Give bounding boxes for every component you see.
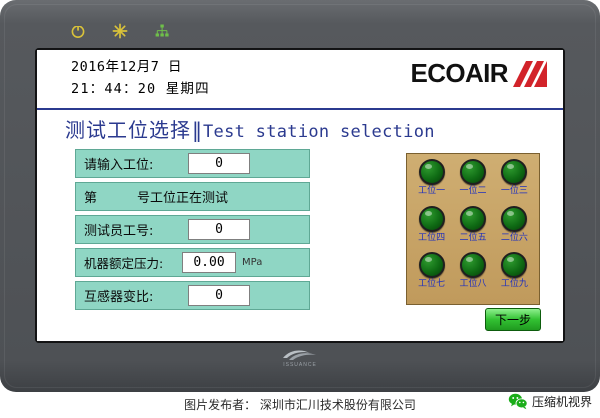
station-label: 一位三	[501, 186, 528, 197]
station-lamp-icon	[460, 206, 486, 232]
operator-id-field[interactable]: 0	[188, 219, 250, 240]
ct-ratio-label: 互感器变比:	[76, 286, 153, 305]
rated-pressure-field[interactable]: 0.00	[182, 252, 236, 273]
device-brand-logo: ISSUANCE	[0, 348, 600, 368]
rated-pressure-unit: MPa	[242, 257, 262, 268]
power-icon	[70, 23, 86, 39]
station-label: 工位四	[418, 233, 445, 244]
station-button-1[interactable]: 工位一	[411, 159, 452, 206]
hmi-screen: 2016年12月7 日 21：44：20 星期四 ECOAIR	[37, 50, 563, 341]
station-button-2[interactable]: 一位二	[452, 159, 493, 206]
hmi-header: 2016年12月7 日 21：44：20 星期四 ECOAIR	[37, 50, 563, 110]
form-row-operator-id: 测试员工号: 0	[75, 215, 310, 244]
testing-status-suffix: 号工位正在测试	[97, 187, 228, 206]
page-title-separator: ‖	[192, 118, 202, 142]
page-title: 测试工位选择 ‖ Test station selection	[65, 114, 525, 144]
datetime-display: 2016年12月7 日 21：44：20 星期四	[71, 56, 210, 100]
station-label: 工位七	[418, 279, 445, 290]
time-text: 21：44：20 星期四	[71, 78, 210, 100]
ecoair-logo-text: ECOAIR	[410, 58, 508, 89]
network-icon	[154, 23, 170, 39]
station-button-3[interactable]: 一位三	[494, 159, 535, 206]
wechat-icon	[508, 393, 528, 410]
station-button-9[interactable]: 工位九	[494, 252, 535, 299]
station-lamp-icon	[501, 252, 527, 278]
station-label: 工位一	[418, 186, 445, 197]
ecoair-chevron-mark-icon	[513, 61, 547, 87]
station-lamp-icon	[501, 206, 527, 232]
station-lamp-icon	[460, 252, 486, 278]
ecoair-logo: ECOAIR	[410, 58, 547, 89]
testing-status-prefix: 第	[76, 187, 97, 206]
swoosh-icon	[280, 348, 320, 361]
station-lamp-icon	[419, 159, 445, 185]
station-button-7[interactable]: 工位七	[411, 252, 452, 299]
device-status-icons	[70, 20, 270, 42]
station-input-field[interactable]: 0	[188, 153, 250, 174]
operator-id-label: 测试员工号:	[76, 220, 153, 239]
publisher-text: 图片发布者： 深圳市汇川技术股份有限公司	[184, 396, 416, 413]
station-button-6[interactable]: 二位六	[494, 206, 535, 253]
station-selector-panel: 工位一 一位二 一位三 工位四	[406, 153, 540, 305]
station-input-label: 请输入工位:	[76, 154, 153, 173]
form-row-testing-status: 第 号工位正在测试	[75, 182, 310, 211]
next-step-button[interactable]: 下一步	[485, 308, 541, 331]
station-button-4[interactable]: 工位四	[411, 206, 452, 253]
station-label: 工位八	[459, 279, 486, 290]
station-lamp-icon	[419, 252, 445, 278]
station-label: 工位九	[501, 279, 528, 290]
parameter-form: 请输入工位: 0 第 号工位正在测试 测试员工号: 0 机器额定压力: 0.00…	[75, 149, 310, 314]
station-label: 二位五	[459, 233, 486, 244]
page-footer: 图片发布者： 深圳市汇川技术股份有限公司 压缩机视界	[0, 392, 600, 418]
station-grid: 工位一 一位二 一位三 工位四	[411, 159, 535, 299]
page-title-en: Test station selection	[203, 122, 435, 142]
device-brand-text: ISSUANCE	[0, 362, 600, 368]
station-button-8[interactable]: 工位八	[452, 252, 493, 299]
form-row-rated-pressure: 机器额定压力: 0.00 MPa	[75, 248, 310, 277]
station-label: 二位六	[501, 233, 528, 244]
ct-ratio-field[interactable]: 0	[188, 285, 250, 306]
wechat-account-name: 压缩机视界	[532, 393, 592, 410]
form-row-station-input: 请输入工位: 0	[75, 149, 310, 178]
station-label: 一位二	[459, 186, 486, 197]
station-lamp-icon	[460, 159, 486, 185]
rated-pressure-label: 机器额定压力:	[76, 253, 163, 272]
station-button-5[interactable]: 二位五	[452, 206, 493, 253]
page-title-cn: 测试工位选择	[65, 114, 191, 143]
hmi-device-body: 2016年12月7 日 21：44：20 星期四 ECOAIR	[0, 0, 600, 392]
sun-icon	[112, 23, 128, 39]
date-text: 2016年12月7 日	[71, 56, 210, 78]
form-row-ct-ratio: 互感器变比: 0	[75, 281, 310, 310]
station-lamp-icon	[419, 206, 445, 232]
wechat-account-badge: 压缩机视界	[508, 393, 592, 410]
station-lamp-icon	[501, 159, 527, 185]
screen-bezel: 2016年12月7 日 21：44：20 星期四 ECOAIR	[35, 48, 565, 343]
